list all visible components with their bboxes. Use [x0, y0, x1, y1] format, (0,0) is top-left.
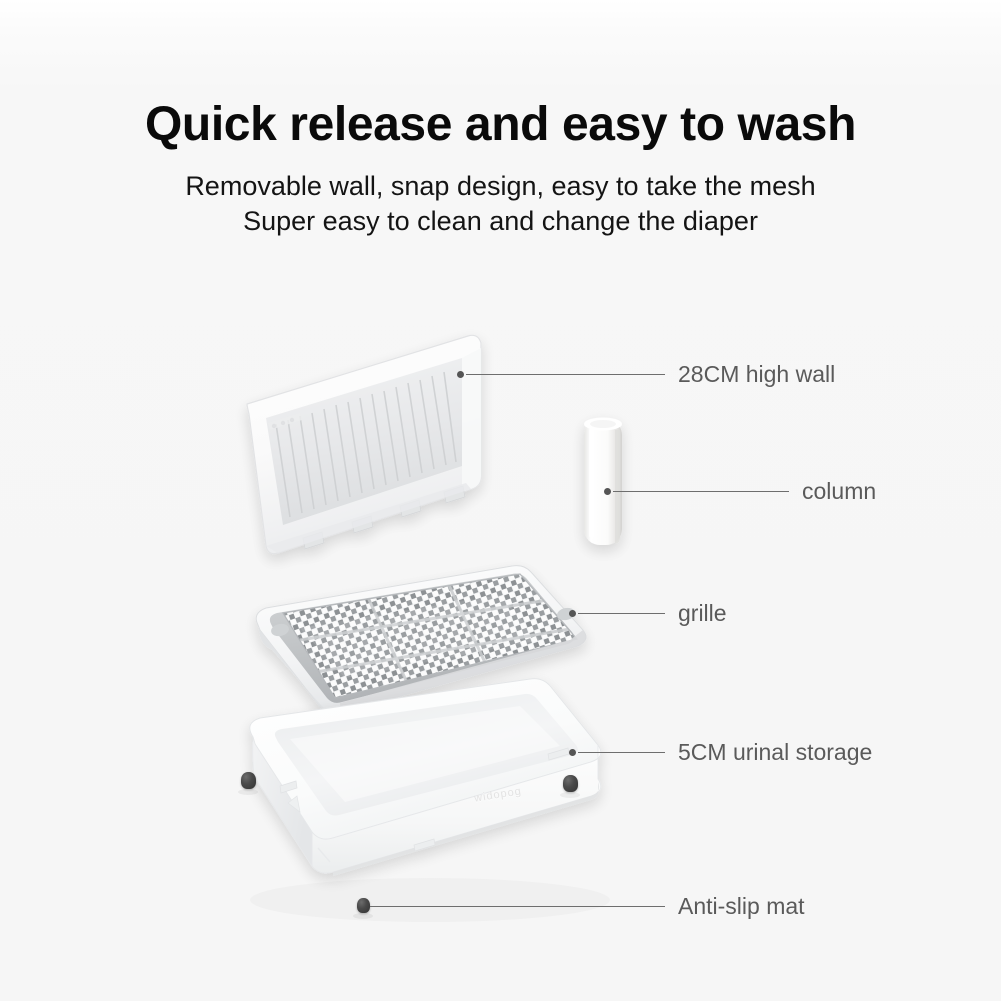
- callout-dot-urinal-storage: [569, 749, 576, 756]
- callout-leader-high-wall: [466, 374, 665, 375]
- callout-dot-column: [604, 488, 611, 495]
- part-base-tray: [250, 679, 601, 876]
- callout-label-urinal-storage: 5CM urinal storage: [678, 739, 872, 766]
- anti-slip-foot-left: [241, 772, 256, 789]
- callout-label-high-wall: 28CM high wall: [678, 361, 835, 388]
- callout-label-grille: grille: [678, 600, 727, 627]
- callout-leader-column: [613, 491, 789, 492]
- anti-slip-foot-front: [357, 898, 370, 913]
- callout-label-anti-slip-mat: Anti-slip mat: [678, 893, 805, 920]
- callout-leader-anti-slip-mat: [370, 906, 665, 907]
- part-column: [584, 418, 622, 546]
- anti-slip-foot-right: [563, 775, 578, 792]
- part-wall-panel: [247, 335, 481, 553]
- callout-label-column: column: [802, 478, 876, 505]
- callout-dot-grille: [569, 610, 576, 617]
- callout-dot-high-wall: [457, 371, 464, 378]
- callout-leader-grille: [578, 613, 665, 614]
- infographic-page: Quick release and easy to wash Removable…: [0, 0, 1001, 1001]
- callout-leader-urinal-storage: [578, 752, 665, 753]
